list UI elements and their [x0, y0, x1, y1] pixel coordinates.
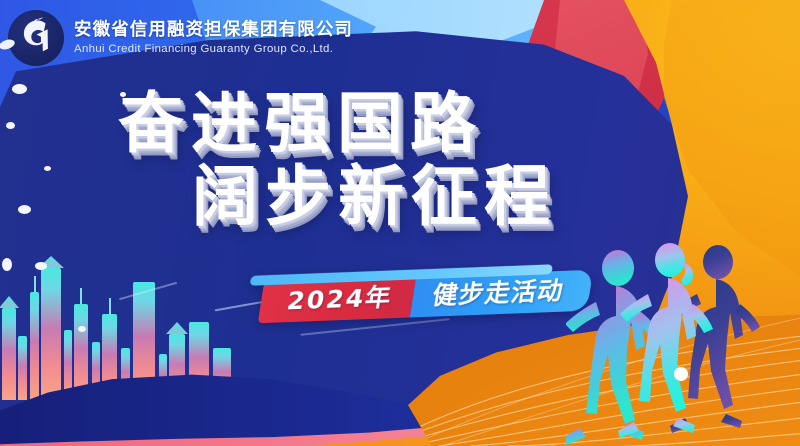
- headline-block: 奋进强国路 阔步新征程: [118, 92, 698, 229]
- skyline-building: [41, 268, 61, 400]
- highlight-dot: [674, 367, 688, 381]
- decorative-dot: [44, 166, 51, 171]
- subtitle-event-text: 健步走活动: [431, 278, 566, 308]
- decorative-dot: [78, 326, 86, 332]
- headline-line-2: 阔步新征程: [192, 165, 698, 230]
- decorative-dot: [120, 92, 126, 97]
- decorative-dot: [6, 122, 15, 129]
- decorative-dot: [35, 262, 47, 270]
- skyline-building: [2, 308, 16, 400]
- decorative-dot: [12, 84, 27, 94]
- company-logo-icon: [8, 10, 64, 66]
- skyline-building: [30, 292, 39, 400]
- company-name-cn: 安徽省信用融资担保集团有限公司: [74, 20, 353, 40]
- company-name-en: Anhui Credit Financing Guaranty Group Co…: [74, 42, 353, 57]
- subtitle-year-text: 2024年: [285, 284, 394, 313]
- company-name-block: 安徽省信用融资担保集团有限公司 Anhui Credit Financing G…: [74, 20, 353, 57]
- headline-line-1: 奋进强国路: [118, 92, 698, 157]
- company-header: 安徽省信用融资担保集团有限公司 Anhui Credit Financing G…: [8, 10, 353, 66]
- promotional-banner: 安徽省信用融资担保集团有限公司 Anhui Credit Financing G…: [0, 0, 800, 446]
- decorative-dot: [2, 258, 12, 271]
- three-runners-silhouette: [566, 232, 800, 446]
- decorative-dot: [18, 205, 31, 214]
- skyline-building: [18, 336, 27, 400]
